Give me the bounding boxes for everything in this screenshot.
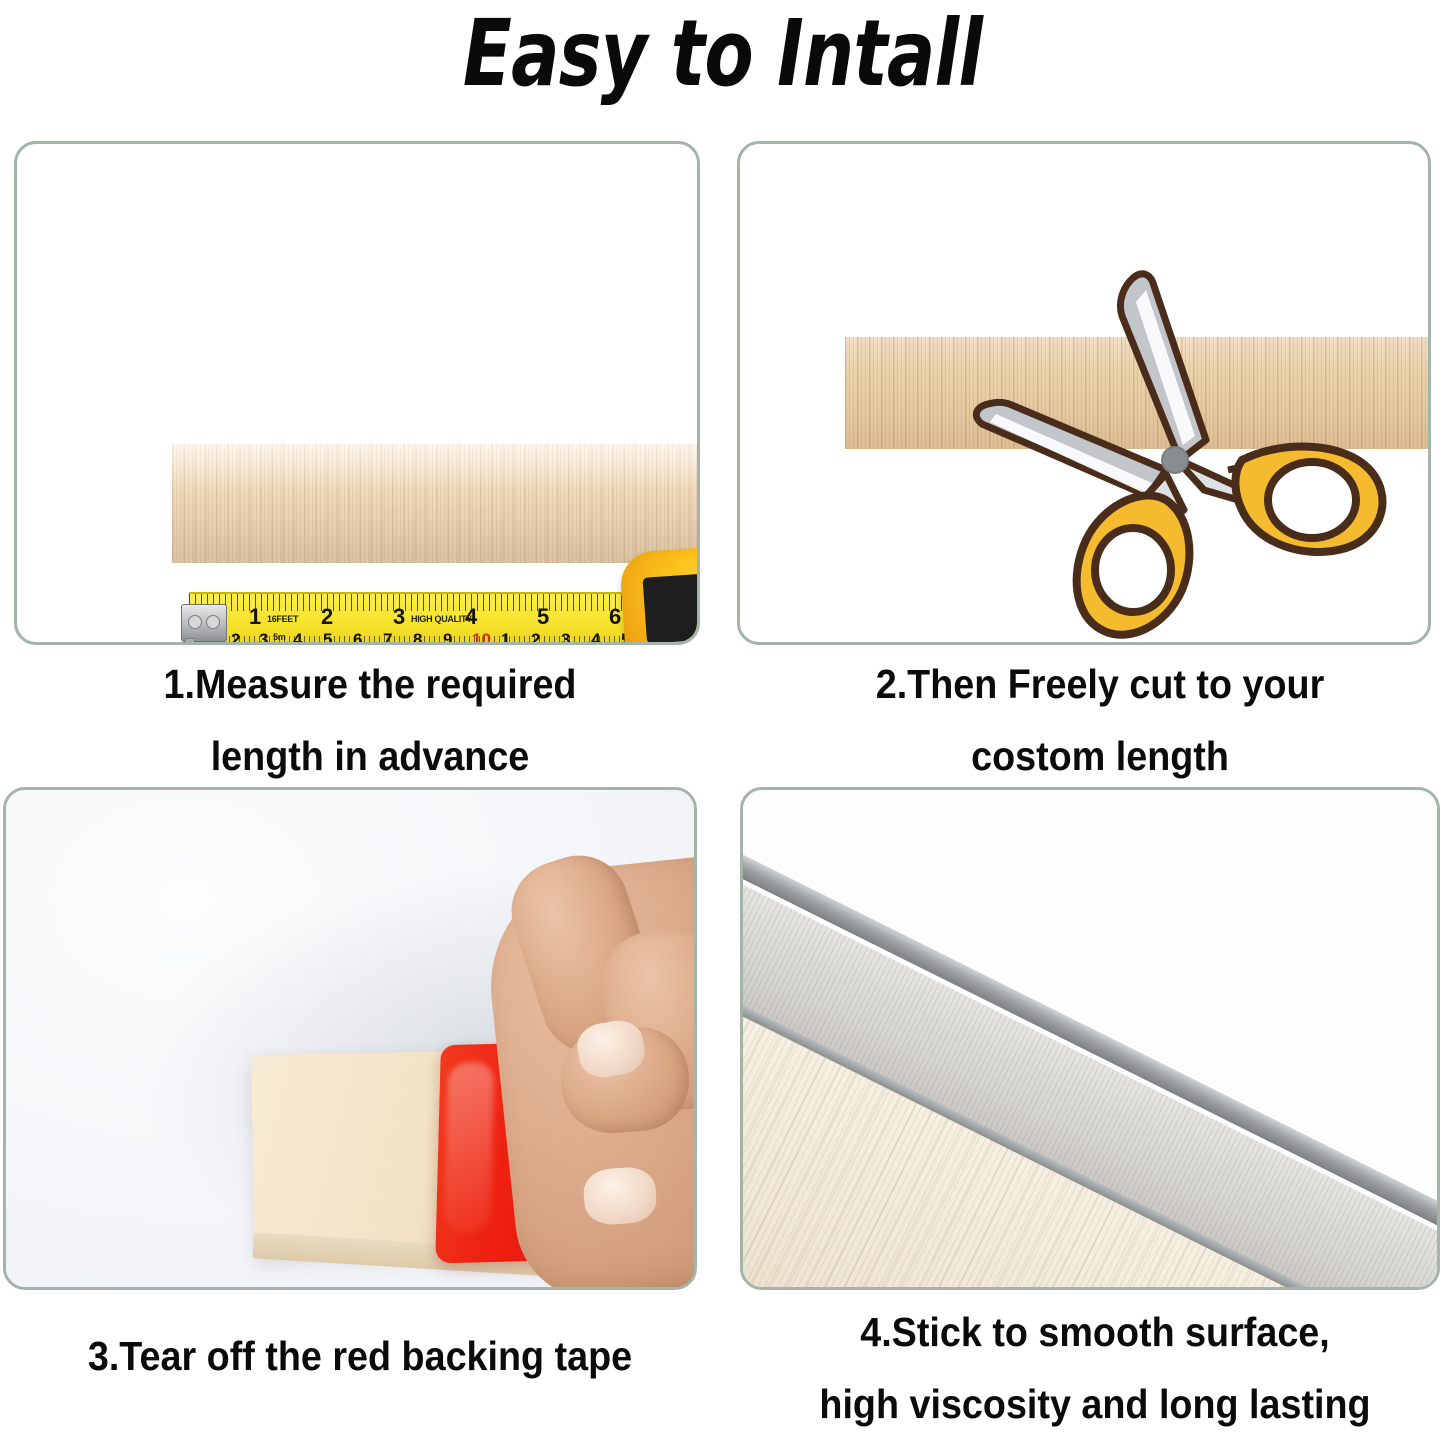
edge-banding-photo	[743, 790, 1437, 1287]
step-2-caption: 2.Then Freely cut to your costom length	[796, 648, 1403, 792]
tape-metric-2: 4	[293, 630, 302, 645]
step-1-caption: 1.Measure the required length in advance	[66, 648, 673, 792]
tape-imperial-3: 3	[393, 604, 405, 630]
tape-quality-label: HIGH QUALITY	[411, 614, 472, 624]
tape-metric-8: 10	[472, 630, 491, 645]
infographic-page: Easy to Intall 1 2 3 4 5 6 16FEET HIGH Q…	[0, 0, 1445, 1431]
tape-imperial-5: 5	[537, 604, 549, 630]
tape-metric-6: 8	[413, 630, 422, 645]
tape-metric-10: 2	[531, 630, 540, 645]
tape-metric-7: 9	[443, 630, 452, 645]
tape-metric-9: 1	[501, 630, 510, 645]
cut-step-panel	[737, 141, 1431, 645]
tape-lock-lever	[643, 574, 700, 644]
tape-hook-tail	[185, 638, 195, 645]
scissors-icon	[970, 264, 1430, 645]
thumbnail-lower	[582, 1166, 658, 1227]
tape-metric-4: 6	[353, 630, 362, 645]
tape-imperial-2: 2	[321, 604, 333, 630]
stick-step-panel	[740, 787, 1440, 1290]
step-3-caption: 3.Tear off the red backing tape	[38, 1320, 682, 1392]
tape-metric-1: 3	[259, 630, 268, 645]
tape-blade: 1 2 3 4 5 6 16FEET HIGH QUALITY 5m 2 3 4…	[189, 592, 669, 645]
tape-metric-0: 2	[231, 630, 240, 645]
page-title: Easy to Intall	[159, 2, 1286, 106]
measure-step-panel: 1 2 3 4 5 6 16FEET HIGH QUALITY 5m 2 3 4…	[14, 141, 700, 645]
tape-brand-label: 16FEET	[267, 614, 298, 624]
wood-strip-image	[172, 444, 700, 563]
tape-measure-illustration: 1 2 3 4 5 6 16FEET HIGH QUALITY 5m 2 3 4…	[167, 576, 700, 645]
tape-imperial-1: 1	[249, 604, 261, 630]
tape-hook	[181, 604, 227, 642]
tape-metric-11: 3	[561, 630, 570, 645]
tape-metric-12: 4	[591, 630, 600, 645]
step-4-caption: 4.Stick to smooth surface, high viscosit…	[773, 1296, 1417, 1440]
peel-step-panel	[3, 787, 697, 1290]
tape-metric-label: 5m	[273, 632, 285, 642]
tape-metric-3: 5	[323, 630, 332, 645]
tape-metric-5: 7	[383, 630, 392, 645]
tape-imperial-6: 6	[609, 604, 621, 630]
